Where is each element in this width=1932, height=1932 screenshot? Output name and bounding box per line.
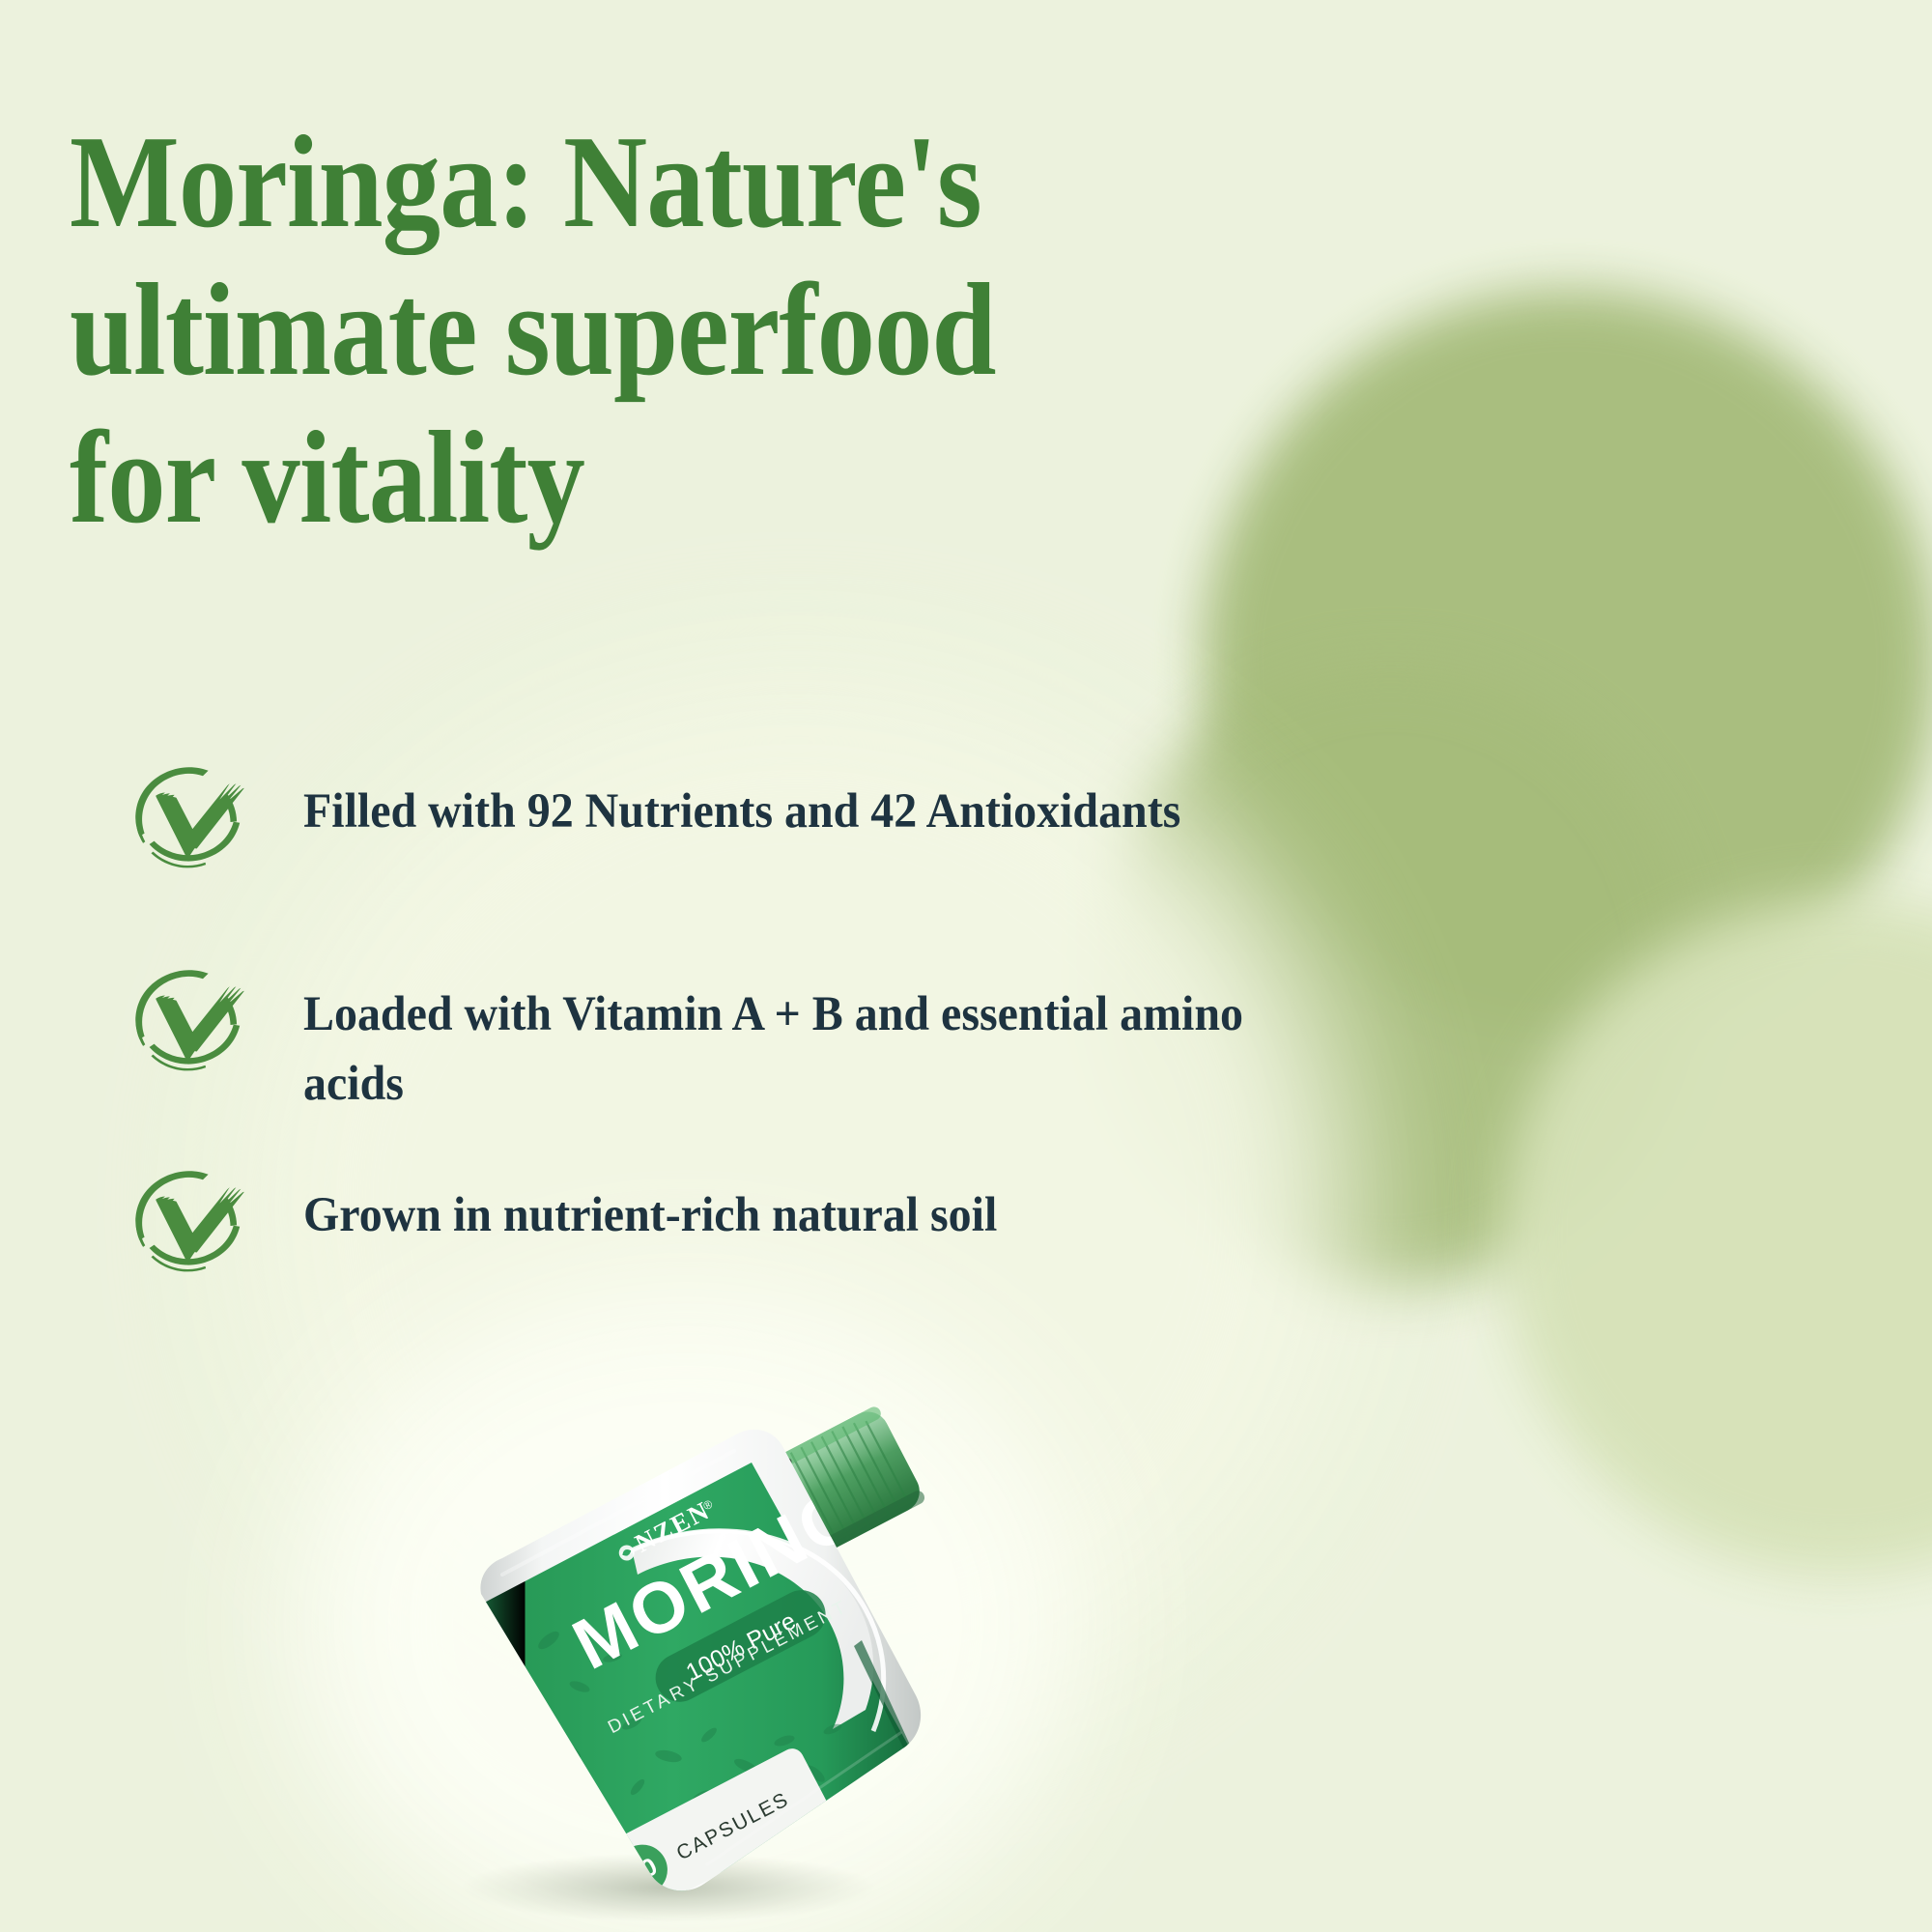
list-item: Loaded with Vitamin A + B and essential …: [128, 966, 1770, 1119]
headline-line-1: Moringa: Nature's: [70, 108, 1072, 256]
list-item: Filled with 92 Nutrients and 42 Antioxid…: [128, 763, 1770, 877]
brush-checkmark-icon: [128, 1159, 247, 1273]
benefit-text: Loaded with Vitamin A + B and essential …: [303, 966, 1321, 1119]
headline-line-2: ultimate superfood: [70, 256, 1072, 404]
benefit-list: Filled with 92 Nutrients and 42 Antioxid…: [128, 763, 1770, 1281]
brush-checkmark-icon: [128, 755, 247, 869]
product-bottle-image: NZEN ® MORINGA 100% Pure DIETARY SUPPLEM…: [379, 1350, 997, 1932]
brush-checkmark-icon: [128, 958, 247, 1072]
list-item: Grown in nutrient-rich natural soil: [128, 1167, 1770, 1281]
page-title: Moringa: Nature's ultimate superfood for…: [70, 108, 1209, 552]
promo-canvas: Moringa: Nature's ultimate superfood for…: [0, 0, 1932, 1932]
benefit-text: Grown in nutrient-rich natural soil: [303, 1167, 997, 1250]
headline-line-3: for vitality: [70, 404, 1072, 552]
benefit-text: Filled with 92 Nutrients and 42 Antioxid…: [303, 763, 1180, 846]
